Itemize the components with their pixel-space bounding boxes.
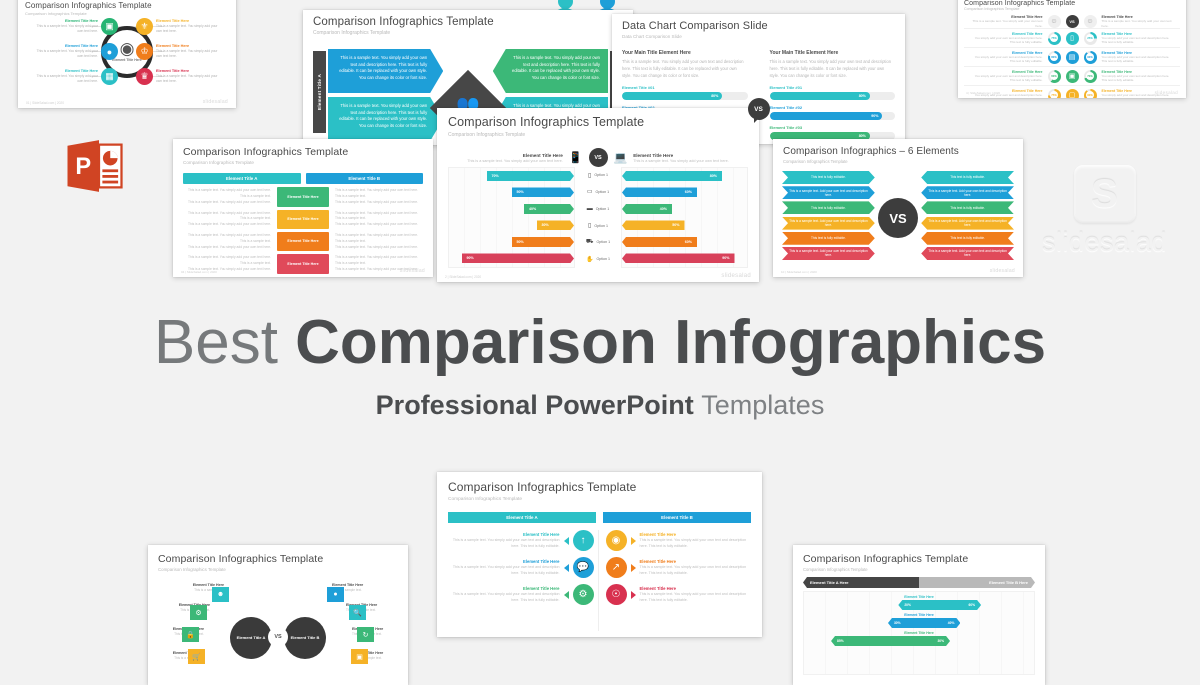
icon-row-item[interactable]: ↗Element Title HereThis is a sample text… — [606, 557, 752, 578]
arrow-box[interactable]: This is a sample text. You simply add yo… — [328, 97, 443, 141]
element-arrow-right: This text is fully editable. — [921, 171, 1014, 184]
slide-brand: slidesalad — [721, 273, 751, 279]
svg-text:P: P — [75, 154, 91, 180]
icon-row-item[interactable]: Element Title HereThis is a sample text.… — [448, 530, 594, 551]
table-row[interactable]: This is a sample text. You simply add yo… — [183, 254, 423, 273]
donut-value: 75% — [1051, 36, 1057, 40]
slide-subtitle: Comparison Infographics Template — [183, 160, 433, 165]
hand-icon: ✋ — [586, 256, 593, 263]
growth-chart-icon: ↗ — [606, 557, 627, 578]
slide-thumbnail-icon-rows[interactable]: Comparison Infographics Template Compari… — [437, 472, 762, 637]
tornado-bar-right: 60% — [622, 237, 697, 247]
donut-right: 90% — [1084, 51, 1097, 64]
icon-column-left: Element Title HereThis is a sample text.… — [448, 530, 599, 631]
table-row[interactable]: This is a sample text. You simply add yo… — [183, 187, 423, 206]
slide-title: Comparison Infographics Template — [803, 553, 1045, 565]
core-b: Element Title B — [284, 617, 326, 659]
slide-thumbnail-tornado-chart[interactable]: Comparison Infographics Template Compari… — [437, 108, 759, 282]
bar-label: Element Title #02 — [770, 105, 896, 110]
mobile-icon: 📱 — [569, 151, 583, 164]
slide-footer: 04 | SlideSalad.com | 2020 — [181, 270, 217, 274]
tornado-header: Element Title Here This is a sample text… — [448, 148, 748, 167]
slide-thumbnail-comparison-table[interactable]: Comparison Infographics Template Compari… — [173, 139, 433, 277]
tablet-icon: ▢ — [1066, 89, 1079, 99]
tornado-bars-right: 80%60%40%50%60%90% — [621, 167, 748, 268]
icon-row-item[interactable]: Element Title HereThis is a sample text.… — [448, 584, 594, 605]
slide-subtitle: Comparison Infographics Template — [313, 30, 633, 36]
slide-subtitle: Comparison Infographics Template — [448, 497, 762, 502]
bar-group-label: Element Title Here — [804, 631, 1034, 635]
arrow-side-left: Element Title A This is a sample text. Y… — [313, 47, 443, 137]
bar-label: Element Title #03 — [770, 125, 896, 130]
title-bold: Comparison Infographics — [295, 308, 1046, 377]
donut-value: 25% — [1087, 36, 1093, 40]
item-text: This is a sample text. You simply add yo… — [640, 592, 752, 604]
hub-item[interactable]: Element Title Here This is a sample text… — [36, 43, 118, 60]
headline-block: Best Comparison Infographics Professiona… — [0, 312, 1200, 421]
header-label: Element Title Here — [448, 153, 563, 158]
table-header: Element Title A Element Title B — [183, 173, 423, 184]
slide-title: Comparison Infographics Template — [183, 146, 433, 158]
tornado-bars-left: 70%50%40%30%50%90% — [448, 167, 575, 268]
bar-right: 30% — [919, 636, 950, 646]
item-text: This is a sample text. You simply add yo… — [640, 538, 752, 550]
element-arrow-left: This text is fully editable. — [782, 201, 875, 214]
slide-subtitle: Comparison Infographics Template — [448, 132, 759, 138]
trophy-icon: ♛ — [136, 68, 153, 85]
slide-title: Comparison Infographics – 6 Elements — [783, 146, 1023, 157]
pin-icon: ● — [101, 43, 118, 60]
slidesalad-logo: S slidesalad — [1027, 165, 1182, 255]
bar-group-label: Element Title Here — [804, 613, 1034, 617]
progress-bar-item[interactable]: Element Title #01 80% — [770, 85, 896, 100]
header-label: Element Title Here — [633, 153, 748, 158]
header-a: Element Title A — [448, 512, 596, 523]
slide-subtitle: Data Chart Comparison Slide — [622, 34, 905, 39]
avatar-icon: ☺ — [1084, 15, 1097, 28]
subtitle-light: Templates — [701, 390, 824, 420]
hub-item[interactable]: Element Title Here This is a sample text… — [36, 68, 118, 85]
element-arrow-left: This text is fully editable. — [782, 171, 875, 184]
tornado-chart: 70%50%40%30%50%90% ▯Option 1▭Option 1▬Op… — [448, 167, 748, 268]
arrow-box[interactable]: This is a sample text. You simply add yo… — [328, 49, 443, 93]
centered-bars-header: Element Title A Here Element Title B Her… — [803, 577, 1035, 588]
slide-subtitle: Comparison Infographics Template — [803, 567, 1045, 572]
slide-title: Comparison Infographics Template — [448, 115, 759, 129]
item-text: This is a sample text. You simply add yo… — [448, 538, 560, 550]
slide-thumbnail-hub-wheel[interactable]: Comparison Infographics Template Compari… — [18, 0, 236, 108]
crown-icon: ♔ — [136, 43, 153, 60]
bar-track: 80% — [622, 92, 748, 100]
pin-icon[interactable]: ● — [327, 587, 344, 602]
item-label: Element Title Here — [448, 586, 560, 591]
icon-column-right: ◉Element Title HereThis is a sample text… — [606, 530, 752, 631]
table-cell-right: This is a sample text. You simply add yo… — [333, 210, 423, 229]
tornado-bar-right: 80% — [622, 171, 722, 181]
lock-icon[interactable]: 🔒 — [182, 627, 199, 642]
camera-icon[interactable]: ▣ — [351, 649, 368, 664]
side-tab-a: Element Title A — [313, 51, 326, 133]
hub-item-text: This is a sample text. You simply add yo… — [156, 74, 218, 84]
table-cell-left: This is a sample text. You simply add yo… — [183, 232, 273, 251]
hub-item-text: This is a sample text. You simply add yo… — [36, 24, 98, 34]
donut-right: 25% — [1084, 32, 1097, 45]
bar-track: 80% — [770, 92, 896, 100]
circular-vs-diagram: Element Title A Element Title B VS ☻ ⚙ 🔒… — [148, 579, 408, 685]
icon-rows-headers: Element Title A Element Title B — [448, 512, 751, 523]
vs-badge: VS — [1066, 15, 1079, 28]
mobile-icon: ▯ — [1066, 32, 1079, 45]
monitor-icon: ▬ — [587, 206, 593, 212]
progress-bar-item[interactable]: Element Title #02 90% — [770, 105, 896, 120]
centered-bars-chart: Element Title Here20%60%Element Title He… — [803, 591, 1035, 675]
bar-group-label: Element Title Here — [804, 595, 1034, 599]
powerpoint-logo: P — [66, 139, 123, 193]
chat-icon: 💬 — [573, 557, 594, 578]
element-arrow-left: This text is fully editable. — [782, 232, 875, 245]
lifebuoy-icon: ☉ — [606, 584, 627, 605]
tornado-categories: ▯Option 1▭Option 1▬Option 1▯Option 1⛟Opt… — [575, 167, 621, 268]
column-heading: Your Main Title Element Here — [622, 50, 748, 56]
row-text: You simply add your own text and descrip… — [1102, 55, 1174, 63]
donut-value: 60% — [1051, 74, 1057, 78]
table-cell-left: This is a sample text. You simply add yo… — [183, 210, 273, 229]
element-arrow-right: This text is fully editable. — [921, 201, 1014, 214]
progress-bar-item[interactable]: Element Title #03 80% — [770, 125, 896, 140]
clipboard-icon: ▣ — [101, 18, 118, 35]
centered-bar-group[interactable]: Element Title Here85%30% — [804, 631, 1034, 646]
eye-icon: ◉ — [606, 530, 627, 551]
slide-subtitle: Comparison Infographics Template — [783, 159, 1023, 164]
id-icon: ▦ — [101, 68, 118, 85]
page-title: Best Comparison Infographics — [0, 312, 1200, 374]
header-text: This is a sample text. You simply add yo… — [971, 19, 1043, 28]
donut-left: 80% — [1048, 51, 1061, 64]
globe-icon: ◉ — [120, 40, 135, 57]
table-row[interactable]: This is a sample text. You simply add yo… — [183, 232, 423, 251]
table-cell-mid: Element Title Here — [277, 187, 329, 206]
tornado-bar-right: 90% — [622, 253, 735, 263]
column-body: This is a sample text. You simply add yo… — [770, 59, 896, 80]
bar-fill: 80% — [622, 92, 722, 100]
icon-rows-body: Element Title HereThis is a sample text.… — [448, 530, 751, 631]
hub-item[interactable]: ♔ Element Title Here This is a sample te… — [136, 43, 218, 60]
pointer-triangle — [631, 537, 636, 545]
slide-footer: 2 | SlideSalad.com | 2020 — [445, 275, 481, 279]
donut-value: 90% — [1087, 55, 1093, 59]
tornado-bar-right: 40% — [622, 204, 672, 214]
bar-value: 80% — [711, 94, 718, 98]
row-text: You simply add your own text and descrip… — [1102, 74, 1174, 82]
header-a: Element Title A Here — [803, 577, 919, 588]
donut-row[interactable]: Element Title Here You simply add your o… — [964, 66, 1180, 85]
element-arrow-right: This is a sample text. Add your own text… — [921, 186, 1014, 199]
bar-right: 40% — [919, 618, 960, 628]
hub-item[interactable]: Element Title Here This is a sample text… — [36, 18, 118, 35]
centered-bar-group[interactable]: Element Title Here20%60% — [804, 595, 1034, 610]
element-arrow-right: This is a sample text. Add your own text… — [921, 217, 1014, 230]
vs-badge: VS — [878, 198, 918, 238]
table-cell-left: This is a sample text. You simply add yo… — [183, 187, 273, 206]
icon-row-item[interactable]: Element Title HereThis is a sample text.… — [448, 557, 594, 578]
element-arrow-left: This is a sample text. Add your own text… — [782, 217, 875, 230]
refresh-icon[interactable]: ↻ — [357, 627, 374, 642]
slidesalad-mark: S — [1074, 165, 1136, 223]
item-label: Element Title Here — [640, 559, 752, 564]
six-elements-diagram: This text is fully editable.This text is… — [782, 171, 1014, 265]
hub-item-text: This is a sample text. You simply add yo… — [36, 49, 98, 59]
pointer-triangle — [631, 591, 636, 599]
table-cell-right: This is a sample text. You simply add yo… — [333, 232, 423, 251]
donut-value: 75% — [1051, 93, 1057, 97]
table-cell-right: This is a sample text. You simply add yo… — [333, 187, 423, 206]
slide-thumbnail-circular-vs[interactable]: Comparison Infographics Template Compari… — [148, 545, 408, 685]
item-text: This is a sample text. You simply add yo… — [448, 565, 560, 577]
row-text: You simply add your own text and descrip… — [1102, 36, 1174, 44]
subtitle-bold: Professional PowerPoint — [376, 390, 694, 420]
slide-footer: 01 | SlideSalad.com | 2020 — [26, 101, 64, 105]
gears-icon: ⚙ — [573, 584, 594, 605]
hub-item[interactable]: ♛ Element Title Here This is a sample te… — [136, 68, 218, 85]
bar-left: 30% — [888, 618, 919, 628]
slide-brand: slidesalad — [990, 268, 1015, 274]
slide-footer: 4 | SlideSalad.com | 2020 — [966, 91, 1000, 95]
bar-fill: 90% — [770, 112, 883, 120]
slide-title: Comparison Infographics Template — [25, 1, 229, 10]
vs-badge: VS — [268, 627, 288, 647]
donut-left: 60% — [1048, 70, 1061, 83]
cart-icon: ⛟ — [586, 238, 594, 246]
slide-title: Data Chart Comparison Slide — [622, 20, 905, 32]
tablet-icon: ▯ — [588, 222, 591, 229]
bar-label: Element Title #01 — [770, 85, 896, 90]
laptop-icon: ▭ — [587, 188, 593, 195]
pointer-triangle — [564, 537, 569, 545]
gear-icon[interactable]: ⚙ — [190, 605, 207, 620]
bar-value: 80% — [859, 94, 866, 98]
donut-header-row: Element Title Here This is a sample text… — [964, 15, 1180, 28]
header-text: This is a sample text. You simply add yo… — [1102, 19, 1174, 28]
bar-value: 90% — [871, 114, 878, 118]
slide-footer: 10 | SlideSalad.com | 2020 — [781, 270, 817, 274]
tornado-bar-right: 60% — [622, 187, 697, 197]
slide-thumbnail-six-elements[interactable]: Comparison Infographics – 6 Elements Com… — [773, 139, 1023, 277]
slide-title: Comparison Infographics Template — [158, 553, 408, 565]
donut-right: 90% — [1084, 89, 1097, 99]
bar-fill: 80% — [770, 92, 870, 100]
hub-item-text: This is a sample text. You simply add yo… — [156, 24, 218, 34]
data-chart-column-right: Your Main Title Element Here This is a s… — [770, 50, 896, 144]
cart-icon[interactable]: 🛒 — [188, 649, 205, 664]
header-b: Element Title B — [603, 512, 751, 523]
column-body: This is a sample text. You simply add yo… — [622, 59, 748, 80]
header-b: Element Title B Here — [919, 577, 1035, 588]
page-subtitle: Professional PowerPoint Templates — [0, 390, 1200, 421]
item-label: Element Title Here — [640, 586, 752, 591]
hub-item-text: This is a sample text. You simply add yo… — [36, 74, 98, 84]
slide-brand: slidesalad — [400, 268, 425, 274]
slide-brand: slidesalad — [203, 99, 228, 105]
vs-badge: VS — [589, 148, 608, 167]
pointer-triangle — [564, 591, 569, 599]
bar-value: 80% — [859, 134, 866, 138]
slide-thumbnail-donut-comparison[interactable]: Comparison Infographics Template Compari… — [958, 0, 1186, 98]
item-label: Element Title Here — [640, 532, 752, 537]
row-text: You simply add your own text and descrip… — [971, 55, 1043, 63]
comparison-table: Element Title A Element Title B This is … — [183, 173, 423, 274]
element-arrow-left: This is a sample text. Add your own text… — [782, 247, 875, 260]
slide-title: Comparison Infographics Template — [448, 480, 762, 494]
arrow-up-icon: ↑ — [573, 530, 594, 551]
row-text: You simply add your own text and descrip… — [971, 74, 1043, 82]
donut-left: 75% — [1048, 89, 1061, 99]
header-text: This is a sample text. You simply add yo… — [448, 159, 563, 163]
element-arrow-right: This is a sample text. Add your own text… — [921, 247, 1014, 260]
icon-row-item[interactable]: ◉Element Title HereThis is a sample text… — [606, 530, 752, 551]
bar-track: 90% — [770, 112, 896, 120]
slide-title: Comparison Infographics Template — [313, 16, 633, 28]
six-element-row[interactable]: This is a sample text. Add your own text… — [782, 247, 1014, 260]
slide-subtitle: Comparison Infographics Template — [158, 567, 408, 572]
slide-thumbnail-centered-bars[interactable]: Comparison Infographics Template Compari… — [793, 545, 1045, 685]
table-cell-mid: Element Title Here — [277, 254, 329, 273]
table-row[interactable]: This is a sample text. You simply add yo… — [183, 210, 423, 229]
pointer-triangle — [564, 564, 569, 572]
search-icon[interactable]: 🔍 — [349, 605, 366, 620]
table-header-a: Element Title A — [183, 173, 301, 184]
donut-left: 75% — [1048, 32, 1061, 45]
item-label: Element Title Here — [448, 559, 560, 564]
donut-row[interactable]: Element Title Here You simply add your o… — [964, 47, 1180, 66]
slide-brand: slidesalad — [1155, 90, 1178, 95]
title-light: Best — [154, 308, 278, 377]
centered-bar-group[interactable]: Element Title Here30%40% — [804, 613, 1034, 628]
monitor-icon: 💻 — [614, 151, 628, 164]
donut-value: 70% — [1087, 74, 1093, 78]
hub-item[interactable]: ⚜ Element Title Here This is a sample te… — [136, 18, 218, 35]
item-text: This is a sample text. You simply add yo… — [448, 592, 560, 604]
donut-value: 90% — [1087, 93, 1093, 97]
progress-bar-item[interactable]: Element Title #01 80% — [622, 85, 748, 100]
donut-row[interactable]: Element Title Here You simply add your o… — [964, 28, 1180, 47]
promo-banner: Comparison Infographics Template Compari… — [0, 0, 1200, 630]
mobile-icon: ▯ — [588, 172, 591, 179]
hub-diagram: ◉ Element Title Here Element Title Here … — [18, 14, 236, 89]
bar-right: 60% — [919, 600, 981, 610]
user-icon[interactable]: ☻ — [212, 587, 229, 602]
item-label: Element Title Here — [448, 532, 560, 537]
slide-subtitle: Comparison Infographics Template — [964, 7, 1180, 11]
column-heading: Your Main Title Element Here — [770, 50, 896, 56]
laptop-icon: ▤ — [1066, 51, 1079, 64]
table-header-b: Element Title B — [306, 173, 424, 184]
hub-item-text: This is a sample text. You simply add yo… — [156, 49, 218, 59]
donut-right: 70% — [1084, 70, 1097, 83]
table-cell-mid: Element Title Here — [277, 210, 329, 229]
slide-title: Comparison Infographics Template — [964, 0, 1180, 7]
avatar-icon: ☺ — [1048, 15, 1061, 28]
item-text: This is a sample text. You simply add yo… — [640, 565, 752, 577]
donut-value: 80% — [1051, 55, 1057, 59]
element-arrow-right: This text is fully editable. — [921, 232, 1014, 245]
core-a: Element Title A — [230, 617, 272, 659]
arrow-box[interactable]: This is a sample text. You simply add yo… — [493, 49, 608, 93]
icon-row-item[interactable]: ☉Element Title HereThis is a sample text… — [606, 584, 752, 605]
header-text: This is a sample text. You simply add yo… — [633, 159, 748, 163]
table-cell-mid: Element Title Here — [277, 232, 329, 251]
monitor-icon: ▣ — [1066, 70, 1079, 83]
tornado-bar-right: 50% — [622, 220, 685, 230]
six-element-row[interactable]: This text is fully editable.This text is… — [782, 171, 1014, 184]
bar-left: 85% — [831, 636, 919, 646]
vs-badge: VS — [748, 98, 770, 120]
bar-label: Element Title #01 — [622, 85, 748, 90]
slidesalad-wordmark: slidesalad — [1027, 227, 1182, 258]
award-icon: ⚜ — [136, 18, 153, 35]
element-arrow-left: This is a sample text. Add your own text… — [782, 186, 875, 199]
bar-left: 20% — [898, 600, 919, 610]
row-text: You simply add your own text and descrip… — [971, 36, 1043, 44]
pointer-triangle — [631, 564, 636, 572]
